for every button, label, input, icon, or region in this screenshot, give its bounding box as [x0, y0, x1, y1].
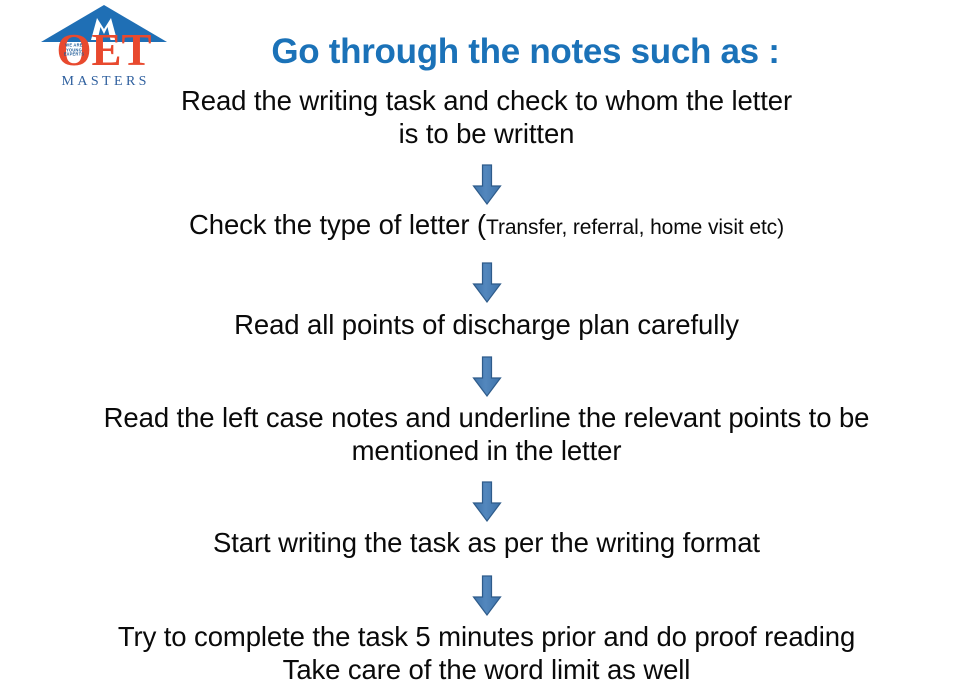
arrow-down-icon — [472, 575, 502, 616]
arrow-down-icon — [472, 481, 502, 522]
flow-step-1-line-2: is to be written — [17, 117, 957, 150]
flow-step-6-line-1: Try to complete the task 5 minutes prior… — [17, 620, 957, 653]
flow-step-1: Read the writing task and check to whom … — [17, 84, 957, 150]
flow-step-4-line-2: mentioned in the letter — [17, 434, 957, 467]
flow-step-6-line-2: Take care of the word limit as well — [17, 653, 957, 686]
flow-step-6: Try to complete the task 5 minutes prior… — [17, 620, 957, 686]
flow-step-2-line-1: Check the type of letter ( — [189, 209, 486, 240]
arrow-down-icon — [472, 262, 502, 303]
flow-step-4-line-1: Read the left case notes and underline t… — [17, 401, 957, 434]
process-flow: Read the writing task and check to whom … — [0, 84, 973, 686]
page-title: Go through the notes such as : — [0, 30, 973, 74]
flow-step-5-line-1: Start writing the task as per the writin… — [17, 526, 957, 559]
flow-step-3-line-1: Read all points of discharge plan carefu… — [17, 308, 957, 341]
flow-step-3: Read all points of discharge plan carefu… — [17, 308, 957, 341]
flow-step-4: Read the left case notes and underline t… — [17, 401, 957, 467]
flow-step-2-detail: Transfer, referral, home visit etc) — [486, 216, 784, 239]
flow-step-1-line-1: Read the writing task and check to whom … — [17, 84, 957, 117]
arrow-down-icon — [472, 356, 502, 397]
flow-step-5: Start writing the task as per the writin… — [17, 526, 957, 559]
arrow-down-icon — [472, 164, 502, 205]
flow-step-2: Check the type of letter (Transfer, refe… — [17, 208, 957, 244]
